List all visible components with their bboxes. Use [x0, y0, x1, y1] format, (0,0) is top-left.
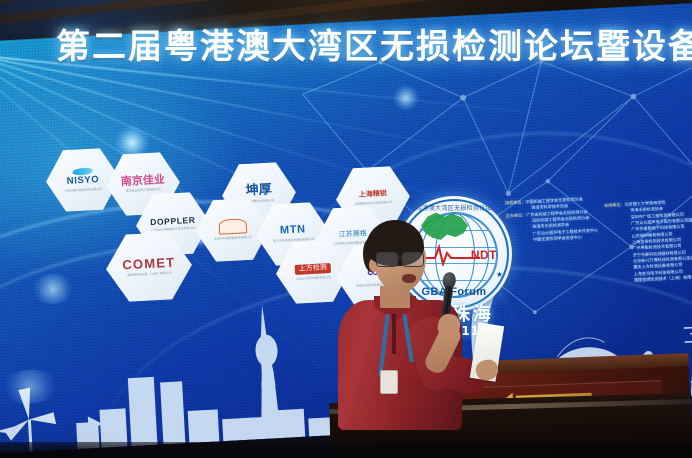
- sponsor-logo-hex-cluster: NISYO 宁波市鄞州磁性材料有限公司 南京佳业 南京佳业检测工程有限公司 坤厚…: [40, 128, 370, 308]
- sponsor-row-label: 支持单位：: [604, 202, 625, 208]
- sponsor-row-label: 指导单位：: [505, 199, 526, 205]
- sponsor-row-value: 广州多普勒电子科技有限公司: [631, 224, 684, 232]
- sponsors-right-column: 支持单位：北京理工大学珠海学院珠海无损检测协会深圳中广核工程检测有限公司广东汕头…: [604, 197, 692, 285]
- event-headline: 第二届粤港澳大湾区无损检测论坛暨设备展览会: [56, 30, 692, 64]
- city-skyline-silhouette: [0, 283, 381, 454]
- photo-bottom-edge: [0, 442, 692, 458]
- conference-photo: 第二届粤港澳大湾区无损检测论坛暨设备展览会 NISYO 宁波市鄞州磁性材料有限公…: [0, 0, 692, 458]
- speaker: [336, 218, 512, 458]
- emblem-arc-text: 粤港澳大湾区无损检测论坛: [396, 203, 512, 212]
- name-badge: [380, 370, 398, 394]
- sponsor-row-value: 中国无损检测学会信息中心: [533, 235, 582, 243]
- sponsors-left-column: 指导单位：中国机械工程学会无损检测分会珠海市科学技术协会主办单位：广东省机械工程…: [505, 196, 599, 245]
- eyeglasses: [376, 252, 428, 265]
